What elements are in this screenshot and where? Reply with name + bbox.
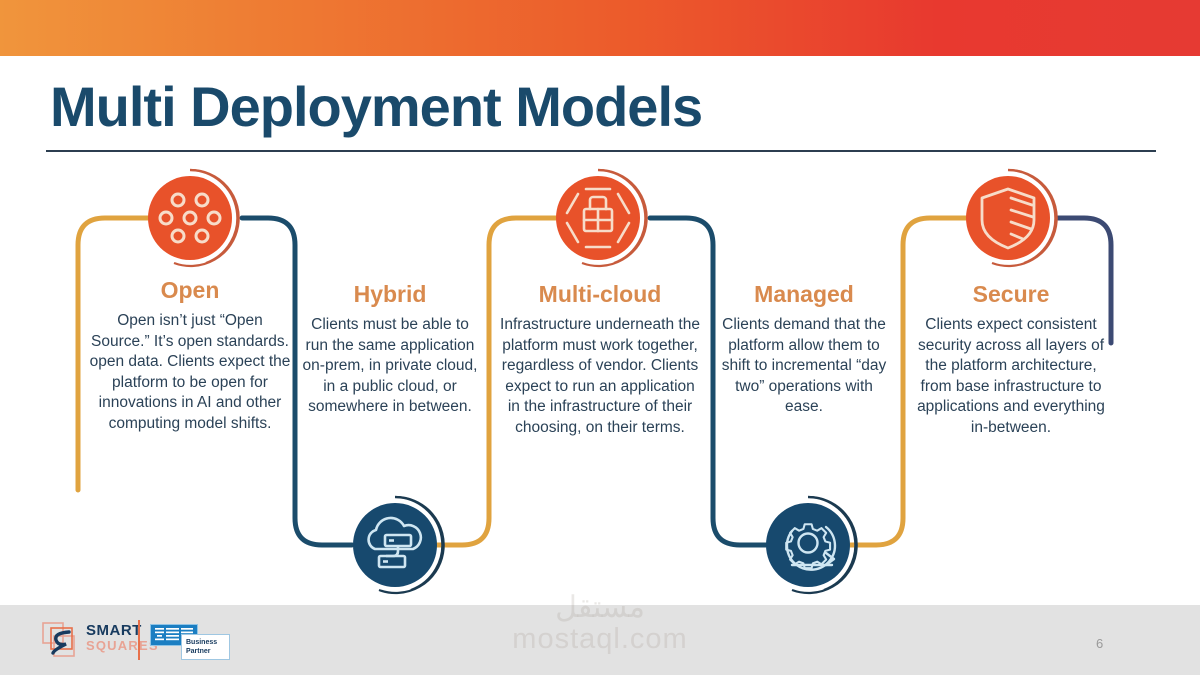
column-body-multicloud: Infrastructure underneath the platform m… [500, 315, 700, 438]
icon-node-hybrid [345, 495, 445, 595]
top-gradient-bar [0, 0, 1200, 56]
logo-separator [138, 620, 140, 660]
gear-refresh-icon [766, 503, 850, 587]
ibm-partner-line1: Business [186, 638, 229, 647]
column-body-managed: Clients demand that the platform allow t… [718, 315, 890, 417]
column-secure: Secure Clients expect consistent securit… [917, 282, 1105, 438]
icon-node-multicloud [548, 168, 648, 268]
column-body-secure: Clients expect consistent security acros… [917, 315, 1105, 438]
ibm-partner-box: Business Partner [181, 634, 230, 660]
column-body-hybrid: Clients must be able to run the same app… [300, 315, 480, 417]
column-managed: Managed Clients demand that the platform… [718, 282, 890, 418]
ibm-business-partner-logo: Business Partner [150, 620, 230, 662]
hexagon-cube-icon [556, 176, 640, 260]
icon-node-secure [958, 168, 1058, 268]
page-number: 6 [1096, 636, 1103, 651]
column-heading-managed: Managed [718, 282, 890, 307]
deployment-models-diagram: Open Open isn’t just “Open Source.” It’s… [0, 150, 1200, 605]
column-heading-hybrid: Hybrid [300, 282, 480, 307]
smart-text: SMART [86, 623, 159, 638]
column-open: Open Open isn’t just “Open Source.” It’s… [88, 278, 292, 434]
column-heading-open: Open [88, 278, 292, 303]
squares-text: SQUARES [86, 638, 159, 654]
smart-squares-mark-icon [42, 622, 82, 660]
icon-node-open [140, 168, 240, 268]
column-heading-multicloud: Multi-cloud [500, 282, 700, 307]
shield-icon [966, 176, 1050, 260]
column-hybrid: Hybrid Clients must be able to run the s… [300, 282, 480, 418]
page-title: Multi Deployment Models [50, 74, 702, 139]
column-heading-secure: Secure [917, 282, 1105, 307]
dots-circle-icon [148, 176, 232, 260]
smart-squares-wordmark: SMART SQUARES [86, 623, 159, 654]
cloud-server-icon [353, 503, 437, 587]
column-body-open: Open isn’t just “Open Source.” It’s open… [88, 311, 292, 434]
smart-squares-logo: SMART SQUARES [42, 620, 152, 662]
icon-node-managed [758, 495, 858, 595]
ibm-partner-line2: Partner [186, 647, 229, 656]
column-multicloud: Multi-cloud Infrastructure underneath th… [500, 282, 700, 438]
